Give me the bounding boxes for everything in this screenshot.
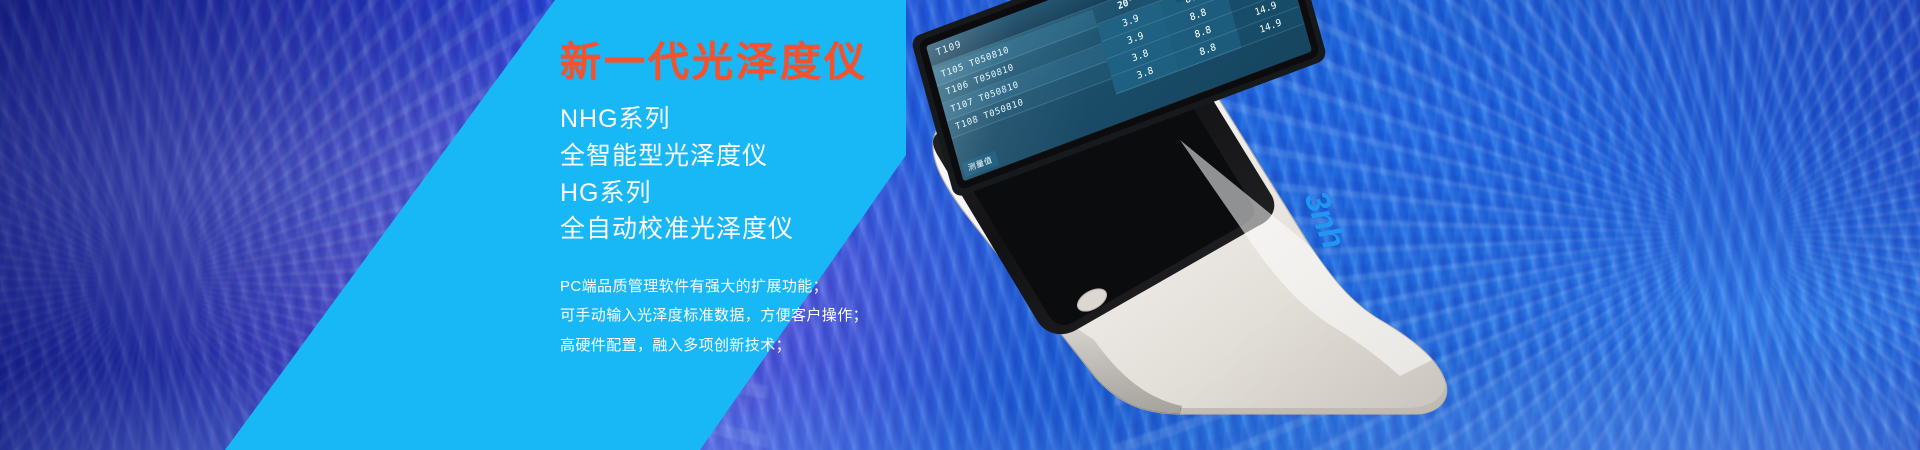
feature-item-3: 高硬件配置，融入多项创新技术； — [560, 331, 1080, 360]
product-series-line-2: 全智能型光泽度仪 — [560, 138, 1080, 175]
product-series-line-1: NHG系列 — [560, 101, 1080, 138]
product-series-line-4: 全自动校准光泽度仪 — [560, 211, 1080, 248]
feature-item-1: PC端品质管理软件有强大的扩展功能； — [560, 272, 1080, 301]
product-series-list: NHG系列 全智能型光泽度仪 HG系列 全自动校准光泽度仪 — [560, 101, 1080, 248]
product-series-line-3: HG系列 — [560, 175, 1080, 212]
product-banner: 新一代光泽度仪 NHG系列 全智能型光泽度仪 HG系列 全自动校准光泽度仪 PC… — [0, 0, 1920, 450]
copy-block: 新一代光泽度仪 NHG系列 全智能型光泽度仪 HG系列 全自动校准光泽度仪 PC… — [560, 40, 1080, 360]
page-title: 新一代光泽度仪 — [560, 40, 1080, 85]
feature-item-2: 可手动输入光泽度标准数据，方便客户操作； — [560, 301, 1080, 330]
feature-list: PC端品质管理软件有强大的扩展功能； 可手动输入光泽度标准数据，方便客户操作； … — [560, 272, 1080, 360]
